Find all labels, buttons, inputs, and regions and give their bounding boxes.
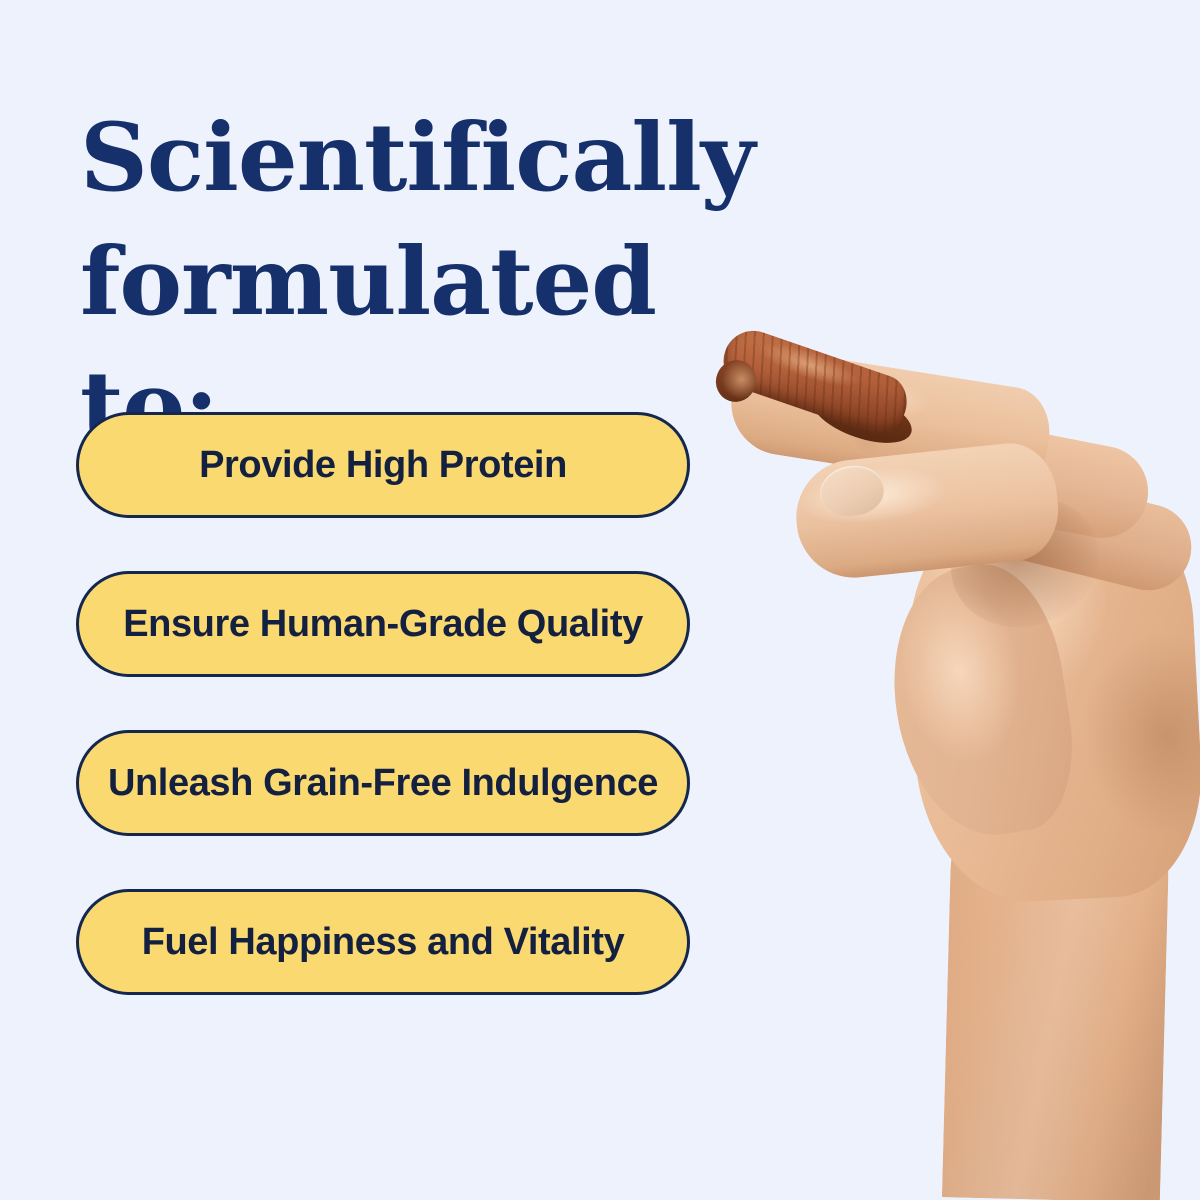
benefit-label: Ensure Human-Grade Quality — [123, 603, 643, 646]
benefit-label: Provide High Protein — [199, 444, 567, 487]
benefit-pill-provide-high-protein: Provide High Protein — [76, 412, 690, 518]
benefit-pill-fuel-happiness-and-vitality: Fuel Happiness and Vitality — [76, 889, 690, 995]
hand-holding-treat-photo — [700, 330, 1200, 1200]
benefit-label: Unleash Grain-Free Indulgence — [108, 762, 658, 805]
benefit-pill-ensure-human-grade-quality: Ensure Human-Grade Quality — [76, 571, 690, 677]
marketing-graphic: Scientifically formulated to: Provide Hi… — [0, 0, 1200, 1200]
benefit-pill-unleash-grain-free-indulgence: Unleash Grain-Free Indulgence — [76, 730, 690, 836]
benefits-list: Provide High Protein Ensure Human-Grade … — [76, 412, 690, 995]
benefit-label: Fuel Happiness and Vitality — [142, 921, 625, 964]
